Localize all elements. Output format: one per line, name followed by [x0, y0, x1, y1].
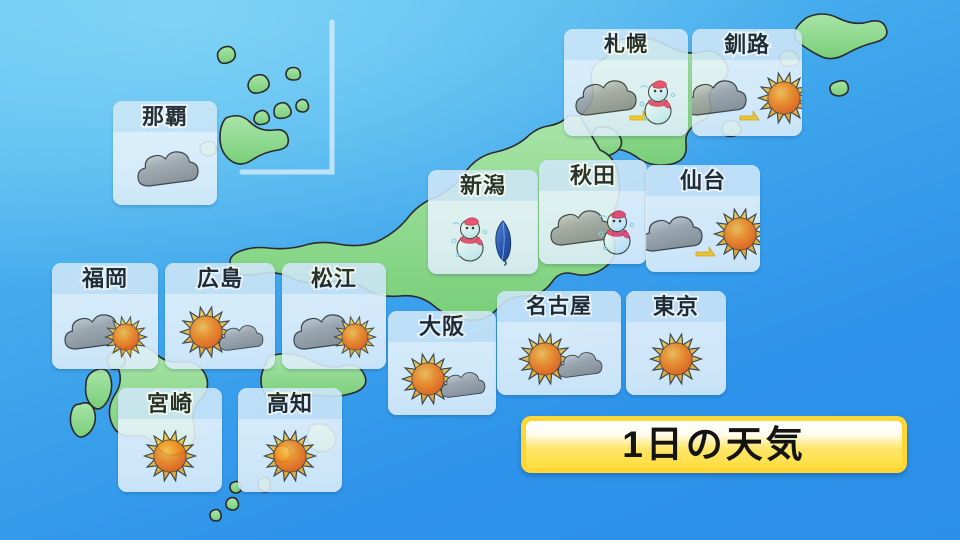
forecast-icons-tokyo — [626, 322, 726, 395]
forecast-icons-osaka — [388, 342, 496, 415]
forecast-body-niigata — [428, 201, 538, 274]
city-name-label: 秋田 — [570, 165, 616, 187]
forecast-icons-nagoya — [497, 322, 621, 395]
cloud-icon — [646, 212, 698, 256]
city-name-header-niigata: 新潟 — [428, 170, 538, 201]
city-name-header-sapporo: 札幌 — [564, 29, 688, 60]
weather-map-screen: 那覇札幌釧路新潟秋田仙台福岡広島松江大阪名古屋東京宮崎高知 1日の天気 — [0, 0, 960, 540]
city-name-label: 大阪 — [419, 316, 465, 338]
cloud-icon — [440, 369, 482, 401]
city-name-label: 広島 — [197, 268, 243, 290]
forecast-body-osaka — [388, 342, 496, 415]
forecast-icons-miyazaki — [118, 419, 222, 492]
arrow-right-icon — [694, 244, 716, 266]
sun-icon — [650, 333, 702, 385]
forecast-icons-hiroshima — [165, 294, 275, 369]
forecast-body-kochi — [238, 419, 342, 492]
city-card-sapporo[interactable]: 札幌 — [564, 29, 688, 136]
city-name-header-kochi: 高知 — [238, 388, 342, 419]
city-card-kushiro[interactable]: 釧路 — [692, 29, 802, 136]
title-banner-inner: 1日の天気 — [526, 421, 902, 468]
city-name-header-tokyo: 東京 — [626, 291, 726, 322]
forecast-icons-matsue — [282, 294, 386, 369]
forecast-icons-naha — [113, 132, 217, 205]
forecast-icons-sapporo — [564, 60, 688, 136]
cloud-icon — [136, 147, 194, 191]
sun-icon — [105, 316, 147, 358]
city-name-header-matsue: 松江 — [282, 263, 386, 294]
title-banner: 1日の天気 — [521, 416, 907, 473]
city-card-niigata[interactable]: 新潟 — [428, 170, 538, 274]
city-card-akita[interactable]: 秋田 — [539, 160, 647, 264]
forecast-icons-akita — [539, 191, 647, 264]
city-name-label: 東京 — [653, 296, 699, 318]
city-card-fukuoka[interactable]: 福岡 — [52, 263, 158, 369]
cloud-icon — [692, 76, 742, 120]
city-name-label: 釧路 — [724, 34, 770, 56]
city-name-header-miyazaki: 宮崎 — [118, 388, 222, 419]
snowman-icon — [450, 212, 490, 264]
city-name-header-kushiro: 釧路 — [692, 29, 802, 60]
snowman-icon — [597, 205, 637, 257]
forecast-body-kushiro — [692, 60, 802, 136]
city-name-header-sendai: 仙台 — [646, 165, 760, 196]
city-name-label: 高知 — [267, 393, 313, 415]
forecast-body-tokyo — [626, 322, 726, 395]
sun-icon — [264, 430, 316, 482]
city-card-miyazaki[interactable]: 宮崎 — [118, 388, 222, 492]
city-card-sendai[interactable]: 仙台 — [646, 165, 760, 272]
city-name-label: 福岡 — [82, 268, 128, 290]
city-card-hiroshima[interactable]: 広島 — [165, 263, 275, 369]
city-name-header-hiroshima: 広島 — [165, 263, 275, 294]
snowman-icon — [638, 75, 678, 127]
city-name-label: 名古屋 — [526, 296, 592, 317]
sun-icon — [714, 208, 760, 260]
city-card-tokyo[interactable]: 東京 — [626, 291, 726, 395]
forecast-body-miyazaki — [118, 419, 222, 492]
forecast-icons-kushiro — [692, 60, 802, 136]
sun-icon — [334, 316, 376, 358]
city-name-header-fukuoka: 福岡 — [52, 263, 158, 294]
cloud-icon — [218, 322, 260, 354]
forecast-body-sapporo — [564, 60, 688, 136]
city-name-header-akita: 秋田 — [539, 160, 647, 191]
forecast-icons-niigata — [428, 201, 538, 274]
city-name-label: 札幌 — [604, 34, 648, 55]
city-name-header-osaka: 大阪 — [388, 311, 496, 342]
forecast-body-fukuoka — [52, 294, 158, 369]
forecast-body-sendai — [646, 196, 760, 272]
umbrella-icon — [486, 218, 516, 264]
sun-icon — [758, 72, 802, 124]
forecast-body-akita — [539, 191, 647, 264]
city-card-naha[interactable]: 那覇 — [113, 101, 217, 205]
forecast-body-matsue — [282, 294, 386, 369]
city-name-label: 仙台 — [680, 170, 726, 192]
forecast-icons-kochi — [238, 419, 342, 492]
city-card-osaka[interactable]: 大阪 — [388, 311, 496, 415]
forecast-body-nagoya — [497, 322, 621, 395]
city-name-label: 那覇 — [142, 106, 188, 128]
forecast-icons-sendai — [646, 196, 760, 272]
cloud-icon — [557, 349, 599, 381]
arrow-right-icon — [738, 108, 760, 130]
sun-icon — [144, 430, 196, 482]
city-card-matsue[interactable]: 松江 — [282, 263, 386, 369]
city-name-header-nagoya: 名古屋 — [497, 291, 621, 322]
forecast-body-hiroshima — [165, 294, 275, 369]
cloud-icon — [574, 76, 632, 120]
city-name-label: 宮崎 — [147, 393, 193, 415]
city-name-label: 新潟 — [460, 175, 506, 197]
city-name-label: 松江 — [311, 268, 357, 290]
title-banner-text: 1日の天気 — [622, 426, 806, 463]
forecast-icons-fukuoka — [52, 294, 158, 369]
forecast-body-naha — [113, 132, 217, 205]
city-name-header-naha: 那覇 — [113, 101, 217, 132]
city-card-nagoya[interactable]: 名古屋 — [497, 291, 621, 395]
city-card-kochi[interactable]: 高知 — [238, 388, 342, 492]
